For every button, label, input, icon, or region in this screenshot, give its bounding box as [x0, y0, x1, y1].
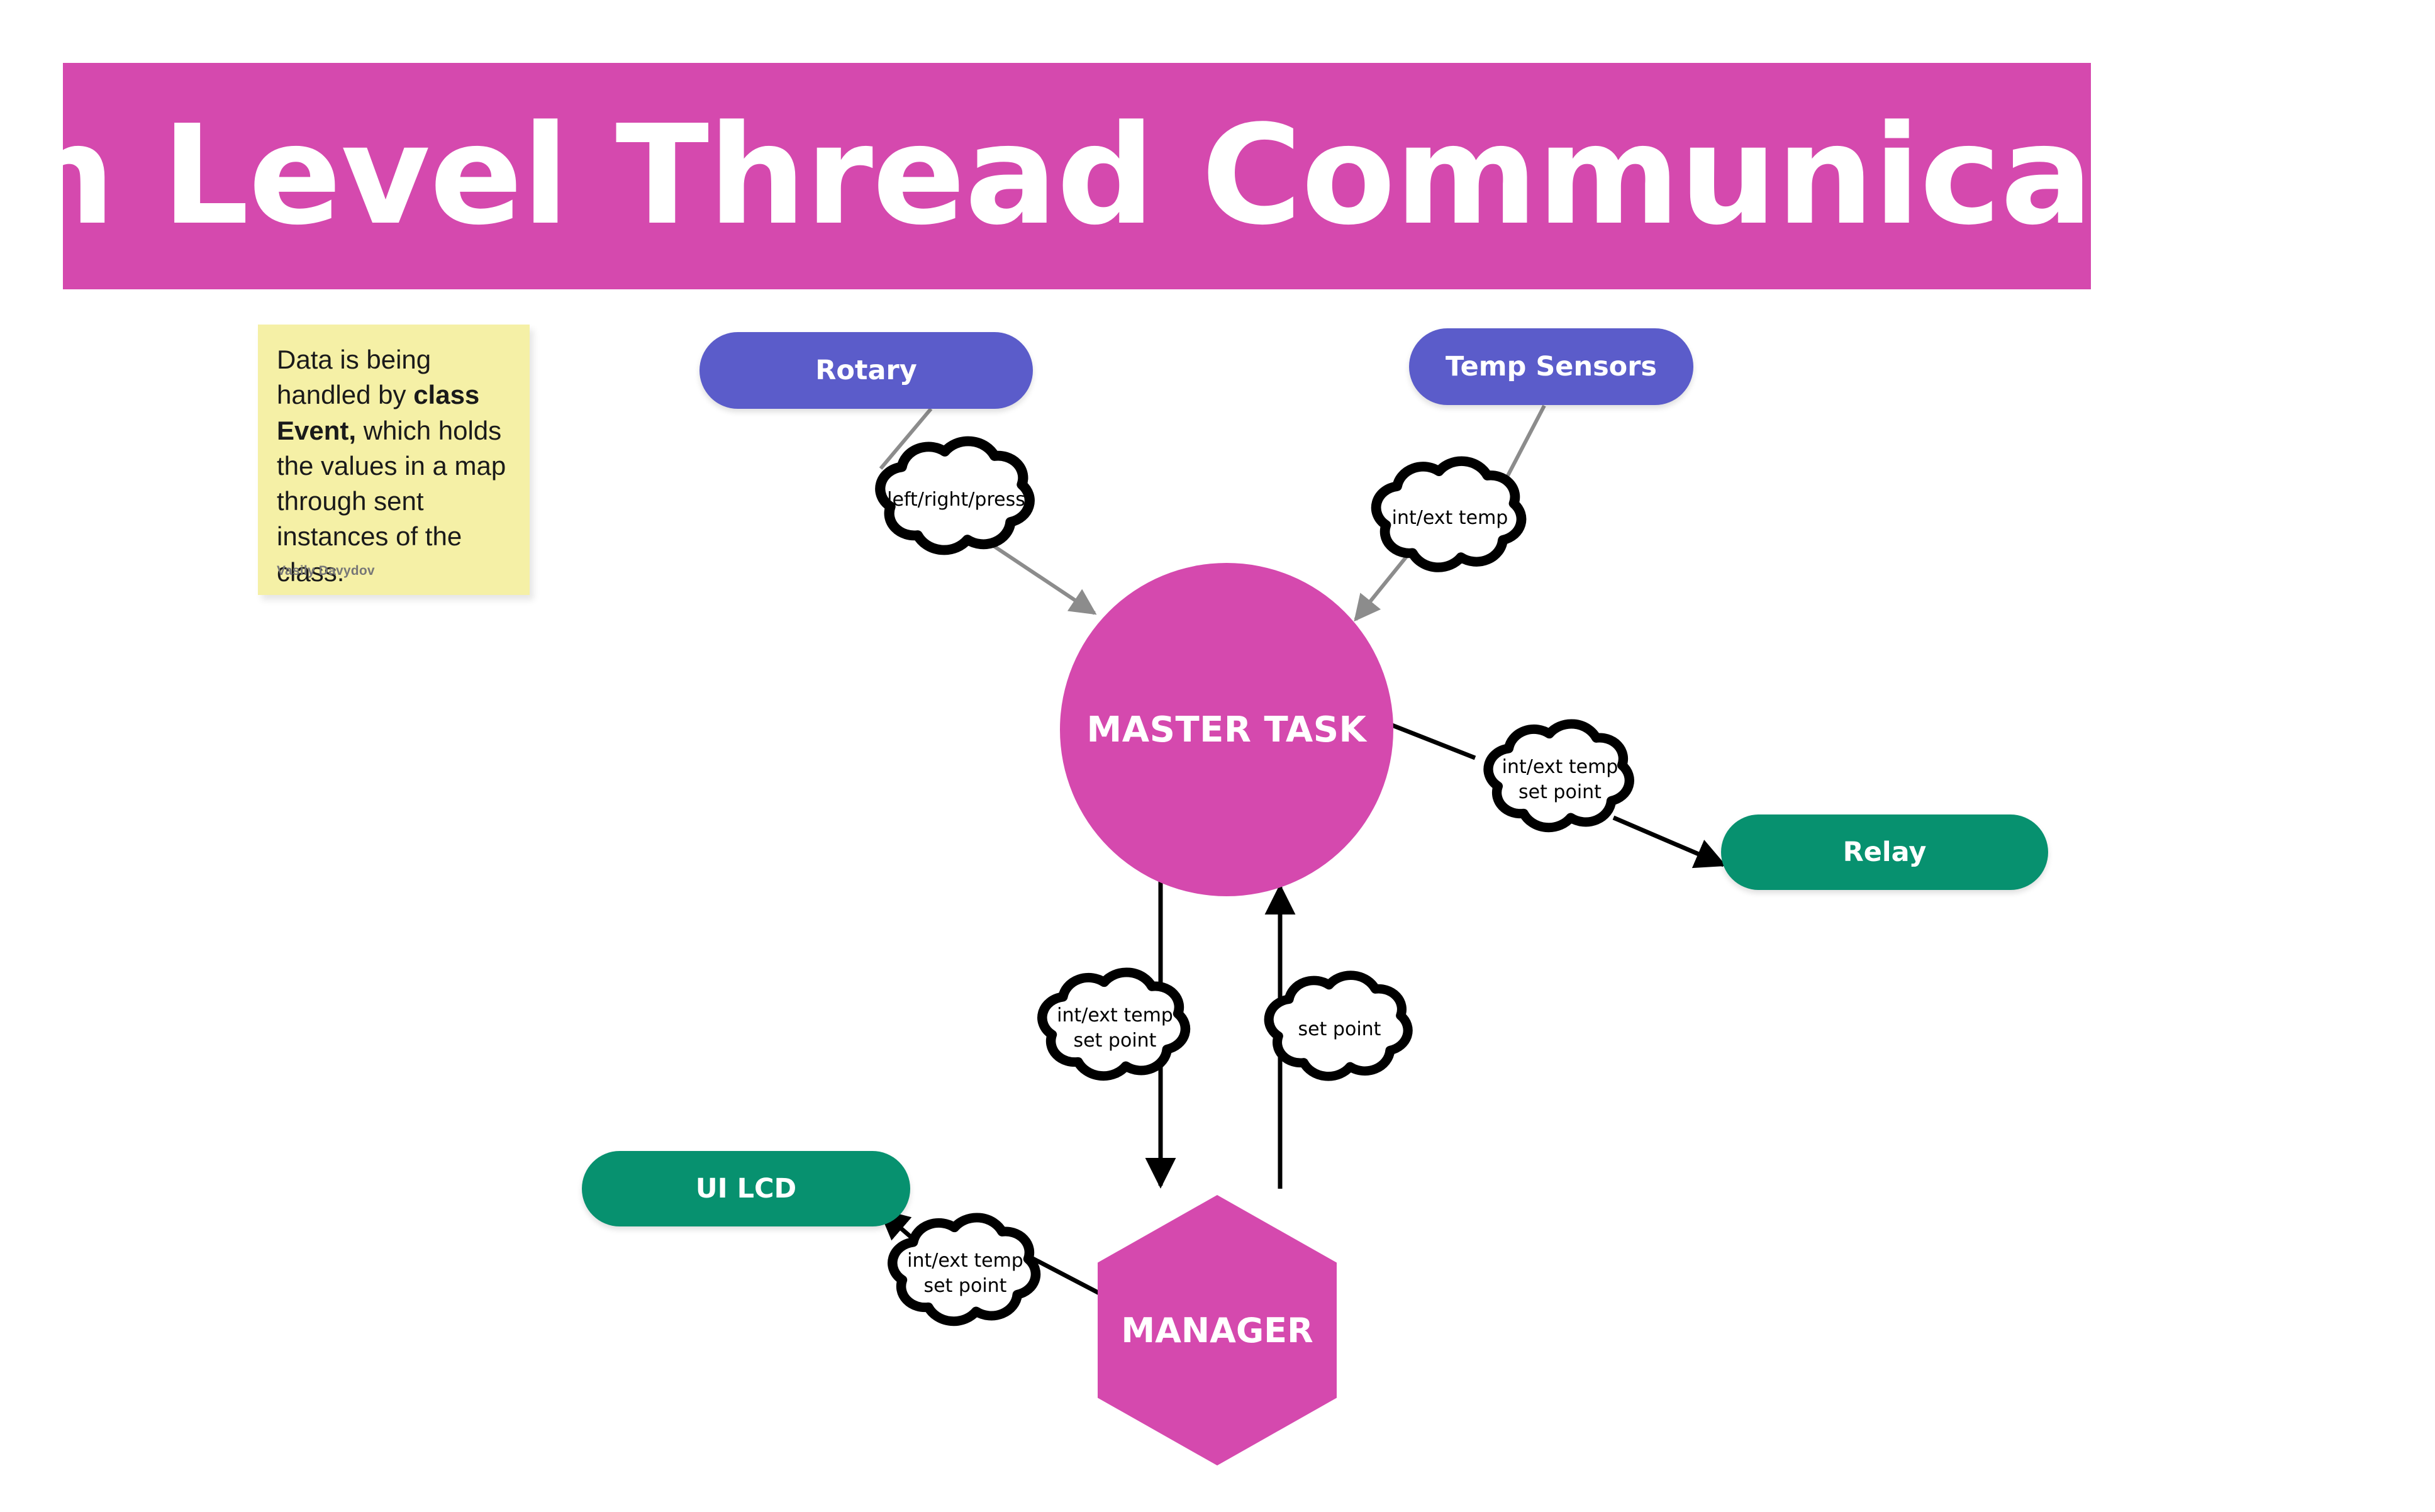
sticky-note: Data is being handled by class Event, wh… — [258, 325, 530, 595]
node-master-task[interactable]: MASTER TASK — [1060, 563, 1393, 896]
cloud-rotary-to-master: left/right/press — [843, 434, 1069, 566]
cloud-label: int/ext temp — [1392, 506, 1508, 531]
cloud-label: set point — [1298, 1017, 1381, 1042]
cloud-temp-to-master: int/ext temp — [1340, 454, 1560, 583]
cloud-label: left/right/press — [887, 487, 1025, 513]
node-manager[interactable]: MANAGER — [1098, 1195, 1337, 1465]
sticky-note-text: Data is being handled by class Event, wh… — [277, 342, 511, 590]
node-rotary[interactable]: Rotary — [699, 332, 1033, 409]
cloud-master-to-relay: int/ext temp set point — [1453, 717, 1667, 843]
cloud-manager-to-master: set point — [1234, 969, 1445, 1091]
node-temp-sensors[interactable]: Temp Sensors — [1409, 328, 1693, 405]
sticky-note-author: Vasily Davydov — [277, 564, 375, 579]
cloud-label: int/ext temp set point — [907, 1248, 1023, 1299]
sticky-note-text-part1: Data is being handled by — [277, 345, 431, 409]
cloud-master-to-manager: int/ext temp set point — [1006, 965, 1223, 1091]
cloud-label: int/ext temp set point — [1502, 755, 1619, 805]
cloud-label: int/ext temp set point — [1057, 1003, 1173, 1053]
title-banner: High Level Thread Communication — [63, 63, 2091, 289]
page-title: High Level Thread Communication — [0, 108, 2394, 245]
node-relay[interactable]: Relay — [1721, 814, 2048, 890]
cloud-manager-to-lcd: int/ext temp set point — [857, 1211, 1074, 1337]
